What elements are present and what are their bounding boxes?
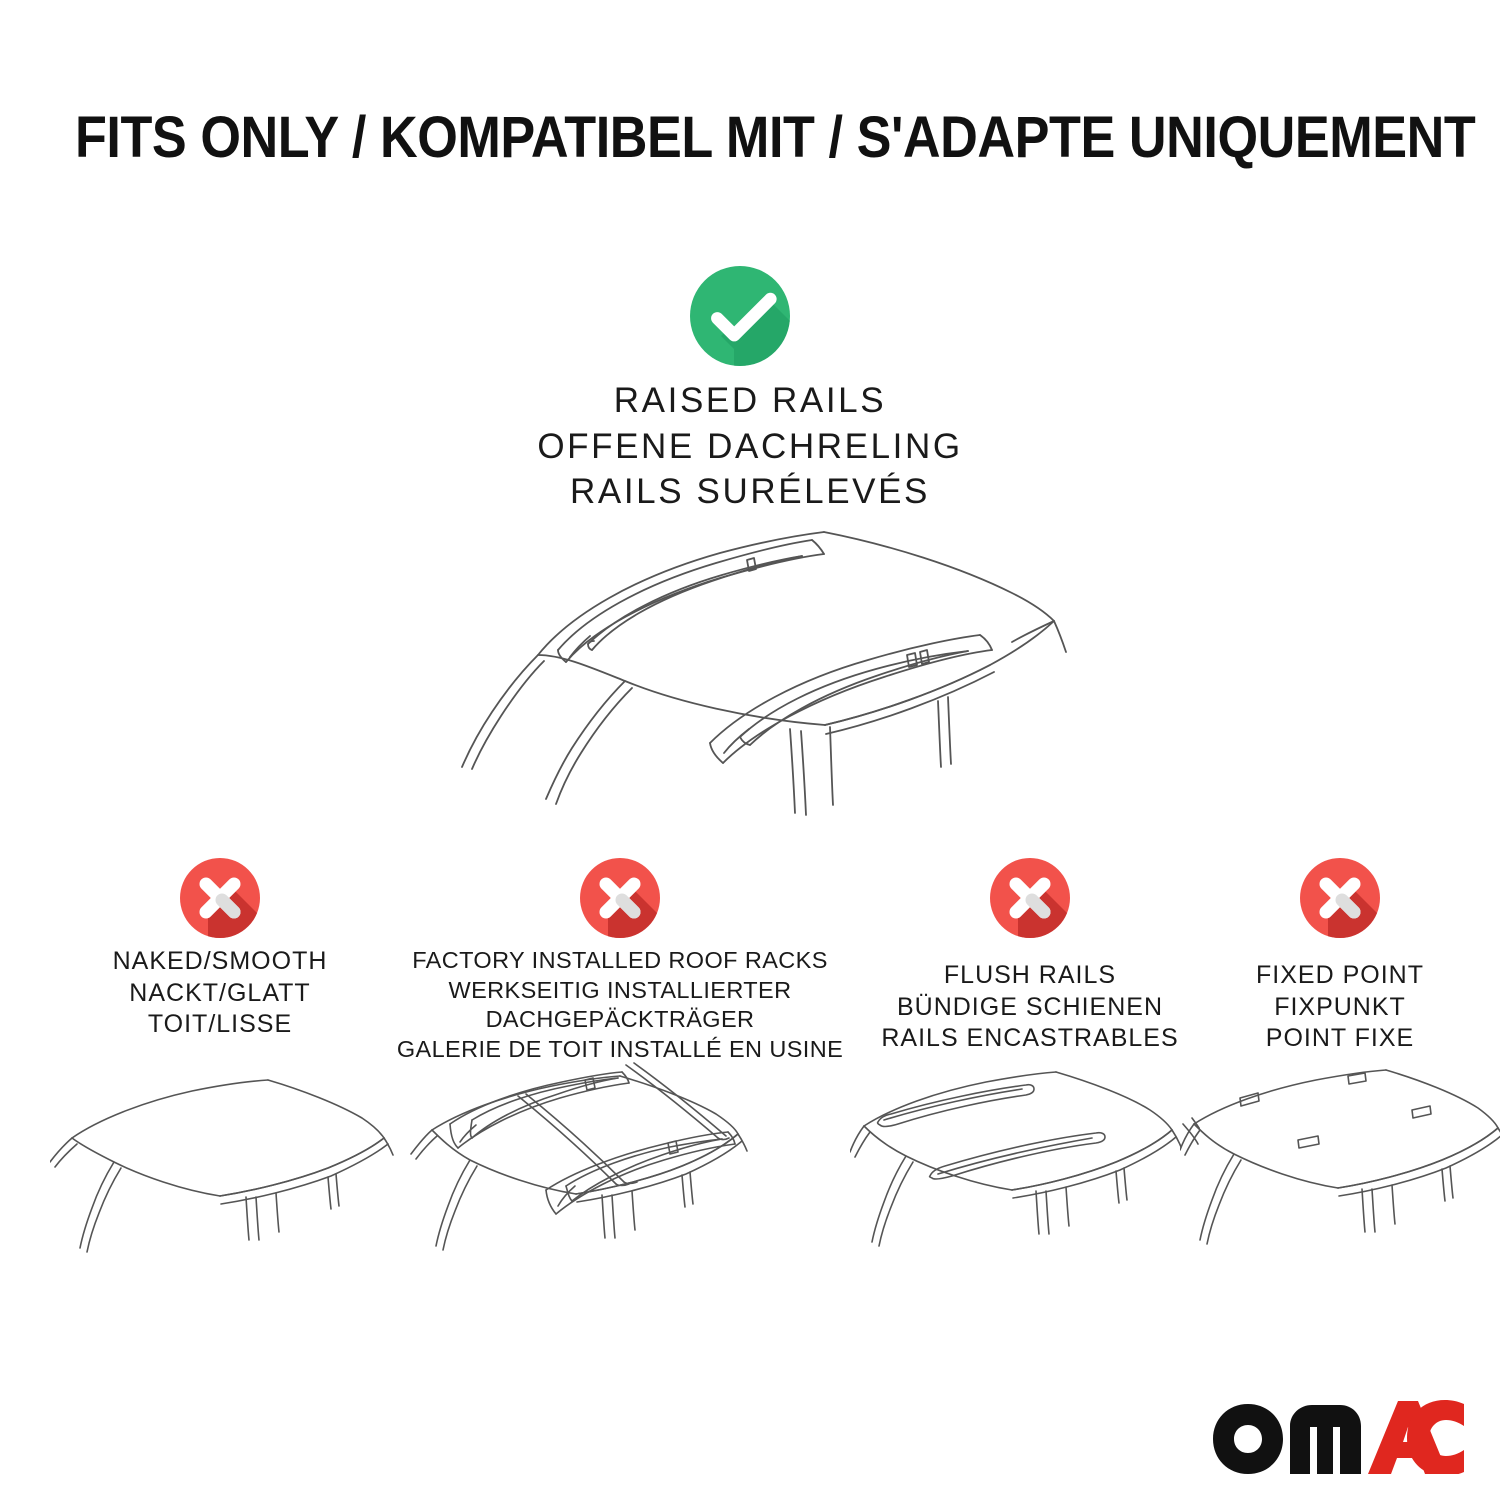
x-circle-icon-factory-roof-racks: [578, 856, 662, 940]
compatible-label-line-2: OFFENE DACHRELING: [350, 424, 1150, 470]
omac-logo: [1212, 1396, 1464, 1474]
fixed-point-label: FIXED POINT FIXPUNKT POINT FIXE: [1180, 960, 1500, 1055]
fitment-infographic: FITS ONLY / KOMPATIBEL MIT / S'ADAPTE UN…: [0, 0, 1500, 1500]
naked-smooth-line-1: NAKED/SMOOTH: [40, 946, 400, 978]
naked-smooth-line-2: NACKT/GLATT: [40, 978, 400, 1010]
flush-rails-line-1: FLUSH RAILS: [840, 960, 1220, 992]
flush-rails-label: FLUSH RAILS BÜNDIGE SCHIENEN RAILS ENCAS…: [840, 960, 1220, 1055]
flush-rails-line-2: BÜNDIGE SCHIENEN: [840, 992, 1220, 1024]
x-circle-icon-naked-smooth: [178, 856, 262, 940]
car-roof-flush-rails-illustration: [850, 1058, 1200, 1298]
car-roof-naked-smooth-illustration: [50, 1058, 400, 1298]
naked-smooth-line-3: TOIT/LISSE: [40, 1009, 400, 1041]
car-roof-raised-rails-illustration: [420, 505, 1090, 835]
compatible-label: RAISED RAILS OFFENE DACHRELING RAILS SUR…: [350, 378, 1150, 515]
factory-roof-racks-line-3: DACHGEPÄCKTRÄGER: [380, 1005, 860, 1035]
flush-rails-line-3: RAILS ENCASTRABLES: [840, 1023, 1220, 1055]
factory-roof-racks-line-1: FACTORY INSTALLED ROOF RACKS: [380, 946, 860, 976]
factory-roof-racks-label: FACTORY INSTALLED ROOF RACKS WERKSEITIG …: [380, 946, 860, 1064]
naked-smooth-label: NAKED/SMOOTH NACKT/GLATT TOIT/LISSE: [40, 946, 400, 1041]
fixed-point-line-3: POINT FIXE: [1180, 1023, 1500, 1055]
check-circle-icon: [688, 264, 792, 368]
x-circle-icon-fixed-point: [1298, 856, 1382, 940]
page-title: FITS ONLY / KOMPATIBEL MIT / S'ADAPTE UN…: [75, 104, 1425, 171]
fixed-point-line-1: FIXED POINT: [1180, 960, 1500, 992]
compatible-label-line-1: RAISED RAILS: [350, 378, 1150, 424]
factory-roof-racks-line-2: WERKSEITIG INSTALLIERTER: [380, 976, 860, 1006]
car-roof-fixed-point-illustration: [1180, 1058, 1500, 1298]
fixed-point-line-2: FIXPUNKT: [1180, 992, 1500, 1024]
car-roof-factory-roof-racks-illustration: [410, 1058, 760, 1298]
x-circle-icon-flush-rails: [988, 856, 1072, 940]
